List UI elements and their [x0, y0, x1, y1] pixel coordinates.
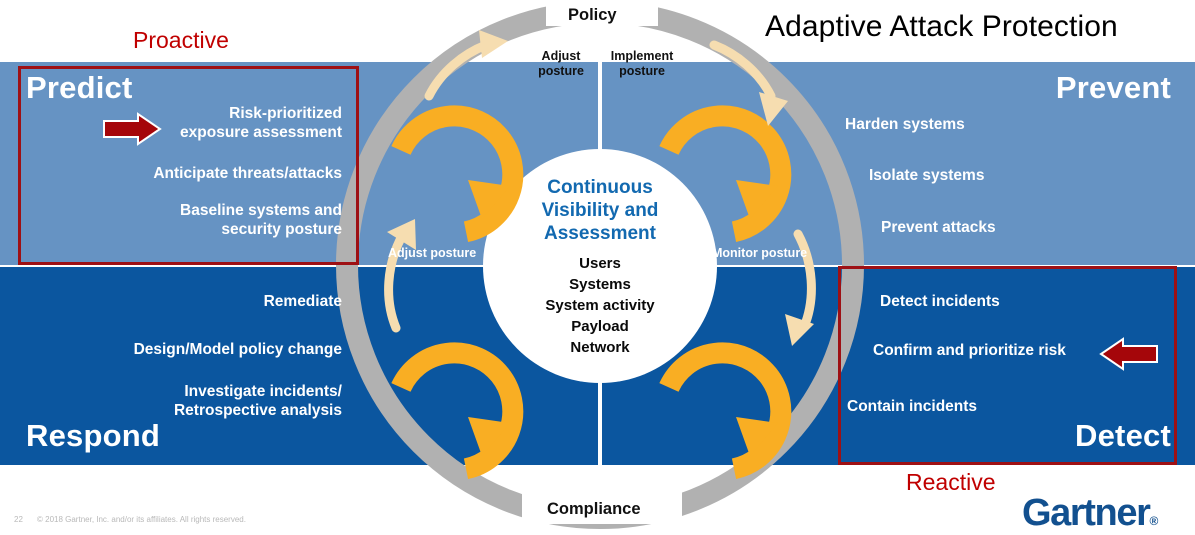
gartner-logo-text: Gartner — [1022, 492, 1149, 534]
highlight-box-predict — [18, 66, 359, 265]
pointer-arrow-left-icon — [1099, 337, 1159, 376]
center-heading: Continuous Visibility and Assessment — [500, 176, 700, 245]
label-implement-posture-top: Implement posture — [602, 49, 682, 79]
pointer-arrow-right-icon — [102, 112, 162, 151]
footer-copyright: © 2018 Gartner, Inc. and/or its affiliat… — [37, 515, 246, 524]
marker-label-reactive: Reactive — [906, 469, 995, 496]
label-adjust-posture-left: Adjust posture — [388, 246, 476, 260]
gartner-logo: Gartner® — [1022, 492, 1158, 535]
prevent-bullet-3: Prevent attacks — [881, 218, 996, 237]
flow-arrow-adjust-left — [387, 219, 416, 328]
respond-bullet-3: Investigate incidents/ Retrospective ana… — [174, 382, 342, 420]
registered-mark-icon: ® — [1149, 514, 1158, 528]
label-adjust-posture-top: Adjust posture — [524, 49, 598, 79]
prevent-bullet-2: Isolate systems — [869, 166, 984, 185]
footer-page-number: 22 — [14, 515, 23, 524]
quadrant-title-prevent: Prevent — [1056, 70, 1171, 106]
label-monitor-posture-right: Monitor posture — [712, 246, 807, 260]
respond-bullet-1: Remediate — [264, 292, 342, 311]
respond-bullet-2: Design/Model policy change — [134, 340, 342, 359]
prevent-bullet-1: Harden systems — [845, 115, 965, 134]
marker-label-proactive: Proactive — [133, 27, 229, 54]
center-item-list: Users Systems System activity Payload Ne… — [500, 253, 700, 358]
slide-canvas: Adaptive Attack Protection — [0, 0, 1195, 535]
ring-label-compliance: Compliance — [547, 500, 641, 519]
quadrant-title-respond: Respond — [26, 418, 160, 454]
ring-label-policy: Policy — [568, 6, 617, 25]
